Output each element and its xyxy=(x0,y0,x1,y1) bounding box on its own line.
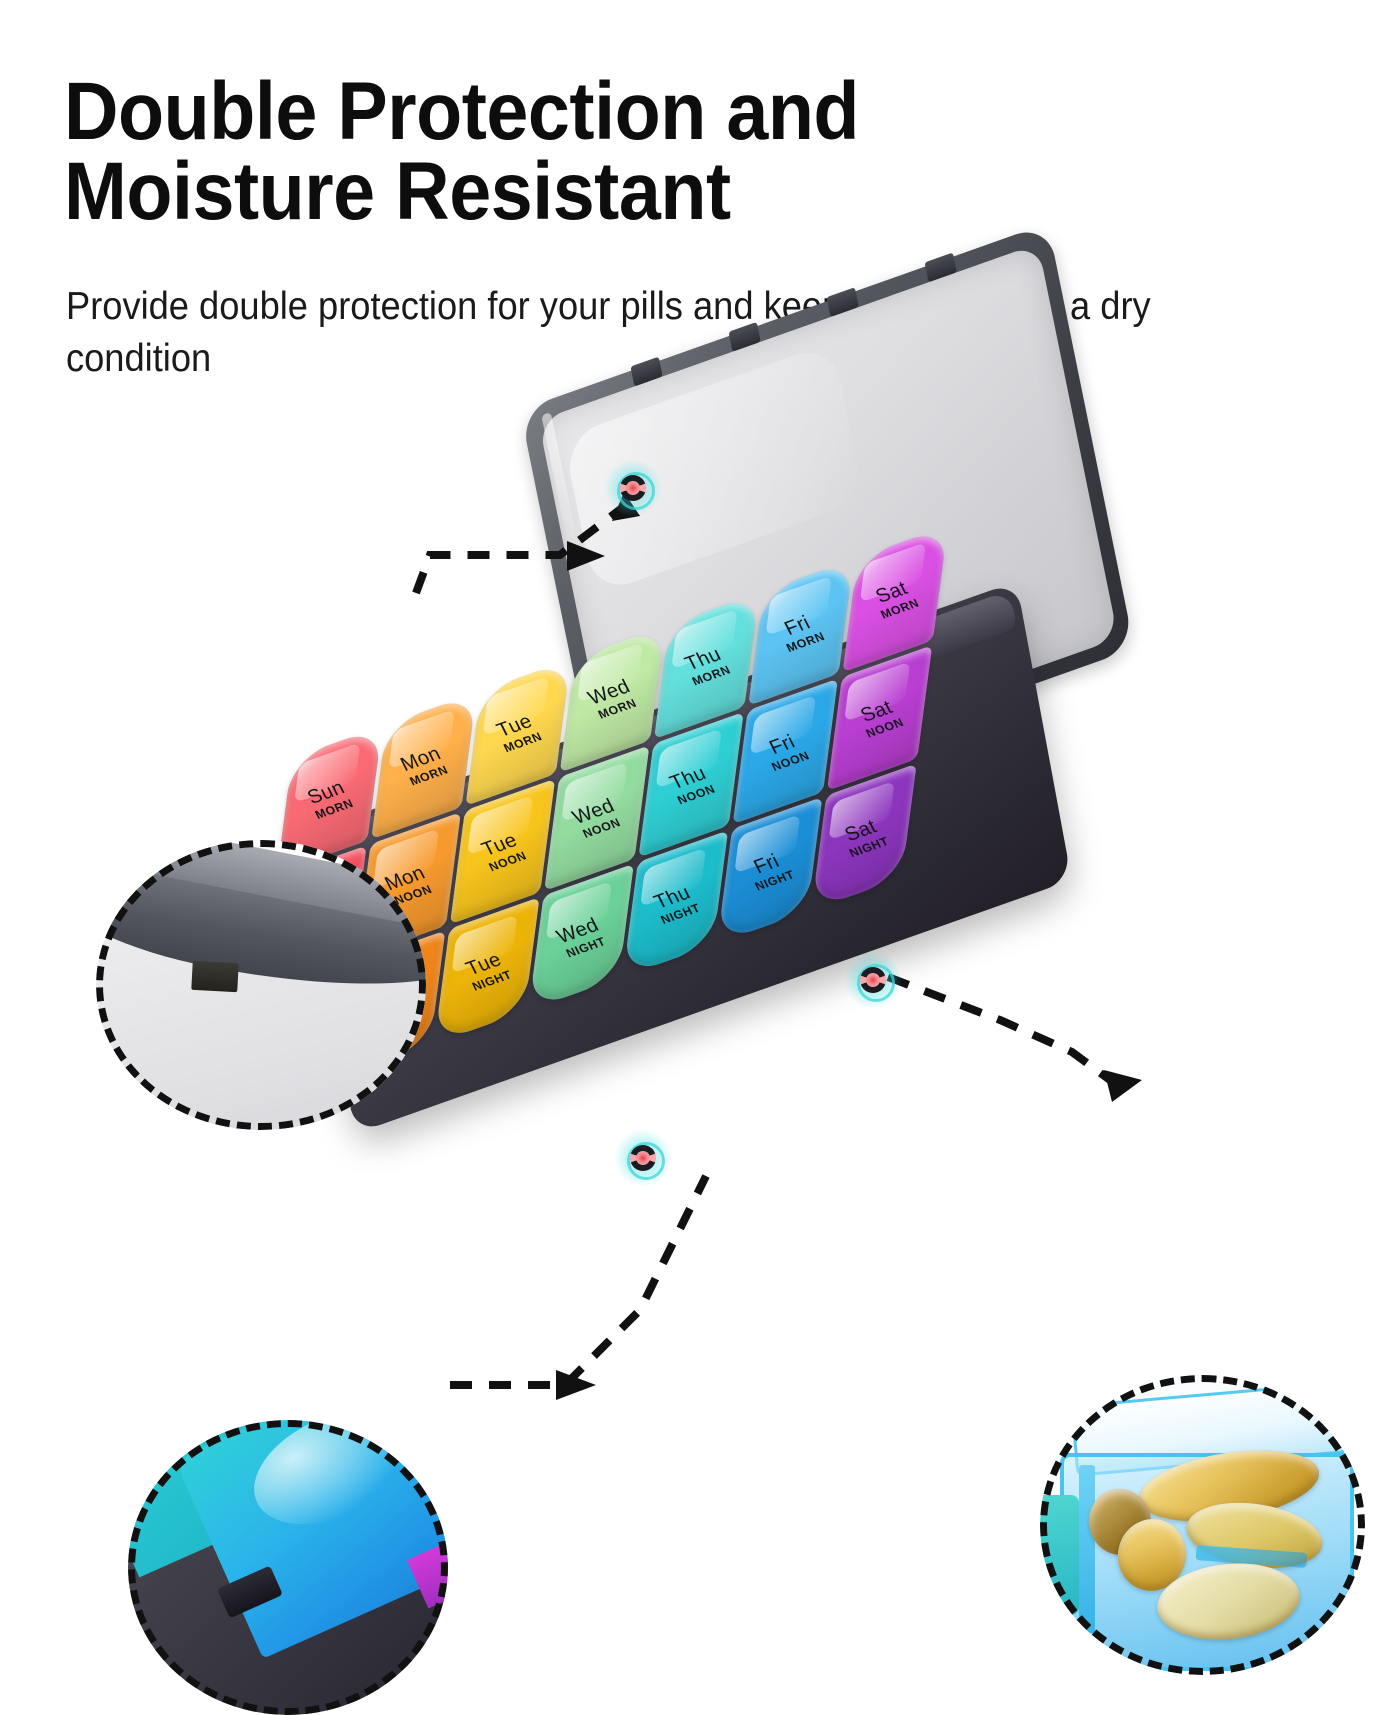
compartment-time-text: NIGHT xyxy=(847,835,890,859)
headline-line-1: Double Protection and xyxy=(64,66,859,157)
compartment-time-text: NOON xyxy=(487,850,529,874)
compartment-label: TueNIGHT xyxy=(460,948,513,992)
target-marker-lid[interactable] xyxy=(605,460,661,516)
compartment-label: FriNIGHT xyxy=(743,848,796,892)
callout-case-latch-art xyxy=(128,1420,448,1715)
compartment-tue-morn[interactable]: TueMORN xyxy=(465,659,571,806)
adjacent-compartment xyxy=(1040,1495,1079,1615)
compartment-day-text: Fri xyxy=(743,848,790,879)
callout-capsules-art xyxy=(1040,1375,1365,1675)
compartment-day-text: Wed xyxy=(554,915,602,947)
compartment-time-text: NOON xyxy=(675,783,717,807)
compartment-time-text: MORN xyxy=(407,764,450,788)
compartment-time-text: MORN xyxy=(502,730,544,754)
compartment-mon-morn[interactable]: MonMORN xyxy=(371,693,477,840)
compartment-label: SatMORN xyxy=(869,577,921,621)
compartment-label: WedMORN xyxy=(585,677,640,722)
compartment-time-text: MORN xyxy=(314,797,356,821)
compartment-time-text: MORN xyxy=(785,630,827,654)
compartment-time-text: NIGHT xyxy=(659,901,702,925)
compartment-time-text: NOON xyxy=(770,749,812,773)
compartment-time-text: NIGHT xyxy=(470,968,513,992)
compartment-label: WedNIGHT xyxy=(554,915,609,960)
compartment-day-text: Tue xyxy=(477,830,522,861)
compartment-day-text: Wed xyxy=(585,677,633,709)
compartment-day-text: Wed xyxy=(569,796,617,828)
callout-capsules xyxy=(1040,1375,1365,1675)
compartment-label: WedNOON xyxy=(569,796,624,841)
marker-core-icon xyxy=(626,481,640,495)
compartment-label: MonMORN xyxy=(397,744,450,788)
callout-lid-seal xyxy=(96,840,426,1130)
compartment-day-text: Thu xyxy=(665,763,710,794)
target-marker-case[interactable] xyxy=(615,1130,671,1186)
compartment-day-text: Sat xyxy=(854,696,899,727)
compartment-label: TueNOON xyxy=(477,830,529,873)
compartment-label: SatNIGHT xyxy=(837,815,890,859)
compartment-label: FriNOON xyxy=(760,730,812,773)
compartment-label: ThuNIGHT xyxy=(649,882,702,926)
compartment-label: SatNOON xyxy=(854,696,906,739)
callout-lid-seal-art xyxy=(96,840,426,1130)
product-feature-slide: Double Protection and Moisture Resistant… xyxy=(0,0,1400,1400)
compartment-time-text: NIGHT xyxy=(564,935,609,960)
page-title: Double Protection and Moisture Resistant xyxy=(64,72,1058,233)
marker-core-icon xyxy=(636,1151,650,1165)
product-scene: SunMORNSunNOONSunNIGHT MonMORNMonNOONMon… xyxy=(0,380,1400,1400)
compartment-label: ThuNOON xyxy=(665,763,717,806)
compartment-time-text: NOON xyxy=(864,716,906,740)
lid-seal-tab xyxy=(191,961,239,992)
compartment-time-text: MORN xyxy=(691,664,733,688)
compartment-divider xyxy=(1079,1465,1095,1633)
target-marker-compartment[interactable] xyxy=(845,952,901,1008)
compartment-day-text: Sat xyxy=(869,577,915,608)
compartment-day-text: Fri xyxy=(775,611,821,642)
compartment-label: TueMORN xyxy=(492,711,544,755)
compartment-day-text: Mon xyxy=(397,744,444,775)
compartment-day-text: Sun xyxy=(304,777,350,808)
headline-line-2: Moisture Resistant xyxy=(64,152,1058,232)
compartment-day-text: Sat xyxy=(837,815,884,846)
compartment-day-text: Thu xyxy=(649,882,696,913)
compartment-time-text: MORN xyxy=(879,597,921,621)
compartment-time-text: NOON xyxy=(579,816,624,841)
compartment-day-text: Thu xyxy=(681,644,727,675)
marker-core-icon xyxy=(866,973,880,987)
compartment-day-text: Tue xyxy=(492,711,538,742)
compartment-day-text: Fri xyxy=(760,730,805,761)
compartment-label: ThuMORN xyxy=(681,644,733,688)
compartment-label: FriMORN xyxy=(775,611,827,655)
compartment-label: SunMORN xyxy=(304,777,356,821)
compartment-time-text: MORN xyxy=(595,697,640,722)
callout-case-latch xyxy=(128,1420,448,1715)
compartment-time-text: NIGHT xyxy=(753,868,796,892)
compartment-day-text: Tue xyxy=(460,948,507,979)
